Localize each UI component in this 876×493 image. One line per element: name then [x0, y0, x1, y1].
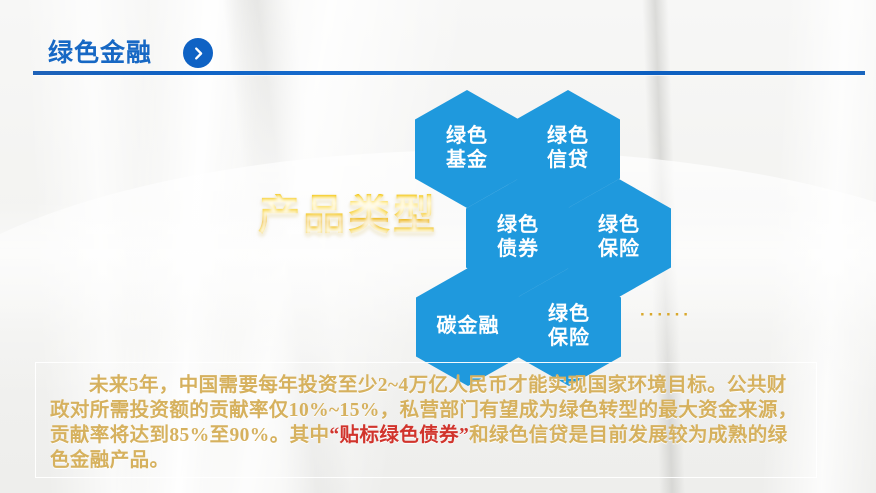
hexagon-label-line2: 保险 [548, 327, 590, 351]
footnote-highlight: “贴标绿色债券” [329, 425, 469, 446]
slide-canvas: 绿色金融 产品类型 绿色 基金 绿色 信贷 绿色 债券 绿色 保险 碳金融 [0, 0, 876, 493]
hexagon-label-line2: 保险 [598, 238, 640, 262]
hexagon-label-line1: 绿色 [547, 125, 589, 149]
hexagon-label-line1: 碳金融 [437, 315, 500, 339]
hexagon-label-line1: 绿色 [497, 214, 539, 238]
footnote-panel: 未来5年，中国需要每年投资至少2~4万亿人民币才能实现国家环境目标。公共财政对所… [35, 362, 817, 478]
hexagon-label-line2: 基金 [446, 149, 488, 173]
footnote-paragraph: 未来5年，中国需要每年投资至少2~4万亿人民币才能实现国家环境目标。公共财政对所… [50, 373, 802, 473]
hexagon-label-line1: 绿色 [548, 303, 590, 327]
hexagon-label-line1: 绿色 [598, 214, 640, 238]
hexagon-label-line1: 绿色 [446, 125, 488, 149]
hexagon-label-line2: 债券 [497, 238, 539, 262]
ellipsis-marker: ······ [640, 305, 692, 325]
hexagon-label-line2: 信贷 [547, 149, 589, 173]
